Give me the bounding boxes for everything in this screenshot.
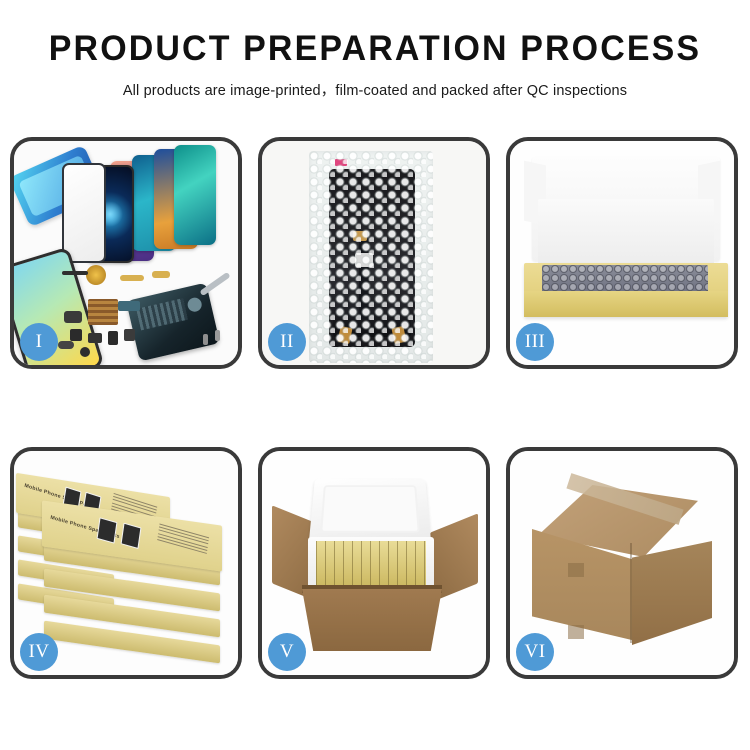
step-badge-5: V xyxy=(268,633,306,671)
carton-tab-lower xyxy=(568,625,584,639)
process-step-5: V xyxy=(258,447,490,679)
bubble-wrap-texture xyxy=(309,151,433,363)
process-step-3: III xyxy=(506,137,738,369)
component-2-icon xyxy=(88,333,102,343)
yellow-boxes-inside xyxy=(316,541,426,585)
process-step-1: I xyxy=(10,137,242,369)
component-3-icon xyxy=(108,331,118,345)
product-preparation-infographic: PRODUCT PREPARATION PROCESS All products… xyxy=(0,0,750,750)
step-badge-3: III xyxy=(516,323,554,361)
step-badge-2: II xyxy=(268,323,306,361)
box-screen-graphic-3 xyxy=(97,517,118,543)
flex-cable-3-icon xyxy=(64,311,82,323)
carton-side-face xyxy=(632,541,712,645)
screw-1-icon xyxy=(215,330,220,341)
process-step-grid: I II xyxy=(10,137,740,679)
component-4-icon xyxy=(124,329,135,341)
carton-tab-upper xyxy=(568,563,584,577)
phone-display-teal xyxy=(174,145,216,245)
component-6-icon xyxy=(80,347,90,357)
process-step-4: Mobile Phone Spare Parts Mobile xyxy=(10,447,242,679)
box-screen-graphic-4 xyxy=(121,523,142,549)
flex-cable-1-icon xyxy=(120,275,144,281)
process-step-6: VI xyxy=(506,447,738,679)
foam-liner xyxy=(538,199,714,269)
disassembled-phone-chassis xyxy=(126,283,220,362)
carton-body xyxy=(302,589,442,651)
box-spec-lines-front xyxy=(157,523,209,555)
earpiece-part-icon xyxy=(62,271,88,275)
yellow-box-front xyxy=(524,291,728,317)
page-title: PRODUCT PREPARATION PROCESS xyxy=(11,30,739,69)
screen-protector-glass xyxy=(62,163,106,263)
step-badge-1: I xyxy=(20,323,58,361)
component-5-icon xyxy=(58,341,74,349)
screw-plate-icon xyxy=(88,299,118,325)
flex-cable-2-icon xyxy=(152,271,170,278)
flex-cable-4-icon xyxy=(118,301,140,311)
carton-vertical-edge xyxy=(630,543,632,643)
step-badge-6: VI xyxy=(516,633,554,671)
page-subtitle: All products are image-printed，film-coat… xyxy=(0,79,750,100)
component-1-icon xyxy=(70,329,82,341)
screw-2-icon xyxy=(203,334,208,345)
step-badge-4: IV xyxy=(20,633,58,671)
process-step-2: II xyxy=(258,137,490,369)
header: PRODUCT PREPARATION PROCESS All products… xyxy=(0,0,750,100)
foam-box-lid xyxy=(309,478,431,543)
speaker-part-icon xyxy=(86,265,106,285)
bubble-wrap-bag xyxy=(309,151,433,363)
